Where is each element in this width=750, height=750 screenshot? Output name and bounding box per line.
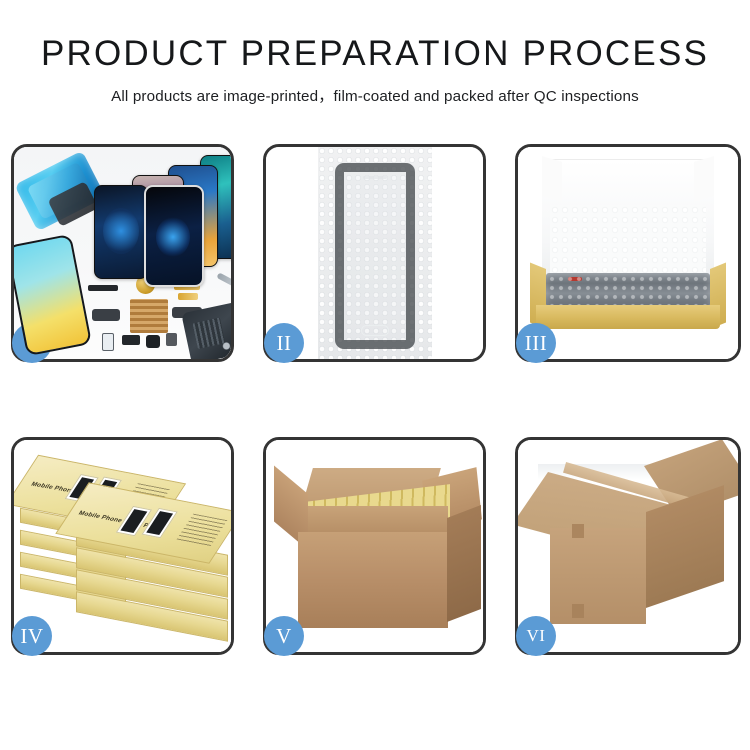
carton-handle-notch-top — [572, 524, 584, 538]
step-ii-image — [266, 147, 483, 359]
step-panel-iv: Mobile Phone Spare Parts Mobile Pho — [11, 437, 234, 655]
step-panel-ii: II — [263, 144, 486, 362]
wrapped-screen-icon — [335, 163, 415, 349]
button-flex-icon — [92, 309, 120, 321]
sealed-carton-stage — [518, 440, 738, 652]
product-preparation-infographic: PRODUCT PREPARATION PROCESS All products… — [0, 0, 750, 750]
step-badge-v: V — [264, 616, 304, 656]
carton-handle-notch-bottom — [572, 604, 584, 618]
home-button-icon — [361, 325, 389, 336]
earpiece-icon — [363, 176, 387, 179]
vibration-motor-icon — [146, 335, 160, 348]
battery-connector-icon — [166, 333, 177, 346]
packed-screen-icon — [546, 273, 710, 307]
open-carton-stage — [266, 440, 483, 652]
tweezers-icon — [216, 272, 231, 291]
warning-label-icon — [568, 277, 582, 281]
phone-lineup — [92, 155, 231, 280]
phone-blue-icon — [94, 185, 148, 279]
screws-icon — [222, 339, 231, 353]
box-lid-flap-right — [694, 156, 714, 202]
step-panel-vi: VI — [515, 437, 741, 655]
step-iv-image: Mobile Phone Spare Parts Mobile Pho — [14, 440, 231, 652]
step-i-image — [14, 147, 231, 359]
step-badge-ii: II — [264, 323, 304, 363]
bubble-wrap-sheet — [318, 147, 432, 359]
phone-front-screen-icon — [144, 185, 204, 287]
step-panel-v: V — [263, 437, 486, 655]
box-stack-stage: Mobile Phone Spare Parts Mobile Pho — [14, 440, 231, 652]
sealed-carton-front — [550, 528, 646, 624]
antenna-strip-icon — [88, 285, 118, 291]
carton-side-face — [447, 505, 481, 622]
retail-box-stack: Mobile Phone Spare Parts Mobile Pho — [20, 458, 230, 640]
step-badge-iii: III — [516, 323, 556, 363]
step-iii-image — [518, 147, 738, 359]
page-subtitle: All products are image-printed，film-coat… — [0, 73, 750, 106]
page-title: PRODUCT PREPARATION PROCESS — [0, 0, 750, 73]
foam-padding-icon — [550, 205, 706, 277]
step-panel-i: I — [11, 144, 234, 362]
step-badge-vi: VI — [516, 616, 556, 656]
connector-grid-icon — [130, 299, 168, 333]
header: PRODUCT PREPARATION PROCESS All products… — [0, 0, 750, 106]
step-vi-image — [518, 440, 738, 652]
process-step-grid: I II — [11, 144, 739, 655]
box-lid-flap-left — [542, 156, 562, 202]
inner-box-stage — [518, 147, 738, 359]
step-v-image — [266, 440, 483, 652]
retail-box-speclines-front — [176, 514, 227, 547]
carton-front-face — [298, 532, 448, 628]
sim-tray-icon — [102, 333, 114, 351]
kraft-tray-front — [536, 305, 720, 329]
module-chip-icon — [122, 335, 140, 345]
flex-cable-small-icon — [178, 293, 198, 300]
step-panel-iii: III — [515, 144, 741, 362]
step-badge-iv: IV — [12, 616, 52, 656]
